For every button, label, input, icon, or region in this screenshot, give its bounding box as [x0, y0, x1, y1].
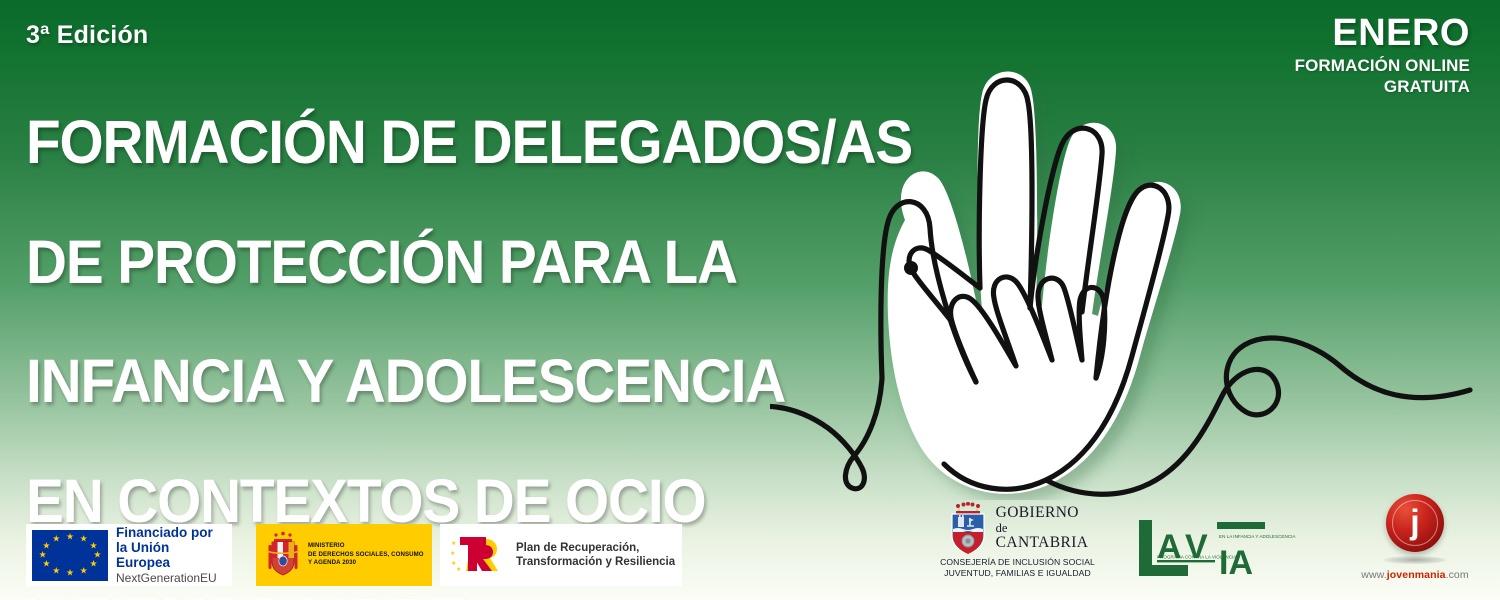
ministerio-logo-text: MINISTERIO DE DERECHOS SOCIALES, CONSUMO… — [308, 542, 424, 568]
url-brand: jovenmania — [1387, 569, 1446, 581]
cantabria-line-1: GOBIERNO — [996, 505, 1089, 521]
promo-block: ENERO FORMACIÓN ONLINE GRATUITA — [1295, 14, 1470, 97]
logo-bar: ★ ★ ★ ★ ★ ★ ★ ★ ★ ★ ★ ★ Financiado por l… — [0, 490, 1500, 600]
eu-flag-icon: ★ ★ ★ ★ ★ ★ ★ ★ ★ ★ ★ ★ — [32, 530, 108, 581]
svg-text:★: ★ — [451, 560, 456, 567]
lavia-programa-logo: A V IA EN LA INFANCIA Y ADOLESCENCIA PRO… — [1135, 516, 1300, 578]
jovenmania-url[interactable]: www.jovenmania.com — [1340, 569, 1490, 581]
title-line-3: INFANCIA Y ADOLESCENCIA — [26, 352, 984, 412]
cantabria-line-2: de — [996, 522, 1089, 535]
cantabria-department-text: CONSEJERÍA DE INCLUSIÓN SOCIAL JUVENTUD,… — [925, 557, 1110, 579]
promotional-banner: 3ª Edición FORMACIÓN DE DELEGADOS/AS DE … — [0, 0, 1500, 600]
plan-recuperacion-logo: ★ ★ ★ ★ Plan de Recuperación, Transforma… — [440, 524, 682, 586]
gobierno-de-cantabria-logo: GOBIERNO de CANTABRIA CONSEJERÍA DE INCL… — [925, 502, 1110, 592]
cantabria-line-3: CANTABRIA — [996, 535, 1089, 551]
edition-label: 3ª Edición — [26, 22, 1056, 50]
jovenmania-ball-icon: j — [1386, 494, 1444, 552]
promo-month: ENERO — [1295, 14, 1470, 52]
lavia-tagline-upper: EN LA INFANCIA Y ADOLESCENCIA — [1219, 534, 1296, 539]
url-prefix: www. — [1361, 569, 1387, 581]
prtr-logo-text: Plan de Recuperación, Transformación y R… — [516, 541, 675, 570]
lavia-tagline-lower: PROGRAMA CONTRA LA VIOLENCIA — [1157, 555, 1237, 560]
eu-logo-title: Financiado por la Unión Europea — [116, 525, 226, 570]
svg-text:★: ★ — [451, 540, 456, 547]
title-line-2: DE PROTECCIÓN PARA LA — [26, 233, 984, 293]
promo-subtitle: FORMACIÓN ONLINE GRATUITA — [1295, 56, 1470, 97]
svg-text:★: ★ — [450, 550, 455, 557]
jovenmania-logo: j www.jovenmania.com — [1340, 494, 1490, 592]
ministerio-derechos-sociales-logo: MINISTERIO DE DERECHOS SOCIALES, CONSUMO… — [256, 524, 432, 586]
jovenmania-j-letter: j — [1410, 505, 1419, 539]
url-suffix: .com — [1446, 569, 1469, 581]
edition-text: 3ª Edición — [26, 21, 148, 49]
european-union-funding-logo: ★ ★ ★ ★ ★ ★ ★ ★ ★ ★ ★ ★ Financiado por l… — [26, 524, 232, 586]
svg-text:★: ★ — [456, 566, 461, 573]
svg-text:IA: IA — [1219, 544, 1253, 578]
lavia-wordmark-icon: A V IA EN LA INFANCIA Y ADOLESCENCIA PRO… — [1135, 516, 1300, 578]
escudo-espana-icon — [264, 531, 302, 579]
cantabria-shield-icon — [947, 502, 989, 554]
jovenmania-ball-shadow — [1384, 556, 1446, 564]
title-line-1: FORMACIÓN DE DELEGADOS/AS — [26, 113, 984, 173]
eu-logo-subtitle: NextGenerationEU — [116, 572, 226, 585]
prtr-mark-icon: ★ ★ ★ ★ — [450, 533, 508, 577]
